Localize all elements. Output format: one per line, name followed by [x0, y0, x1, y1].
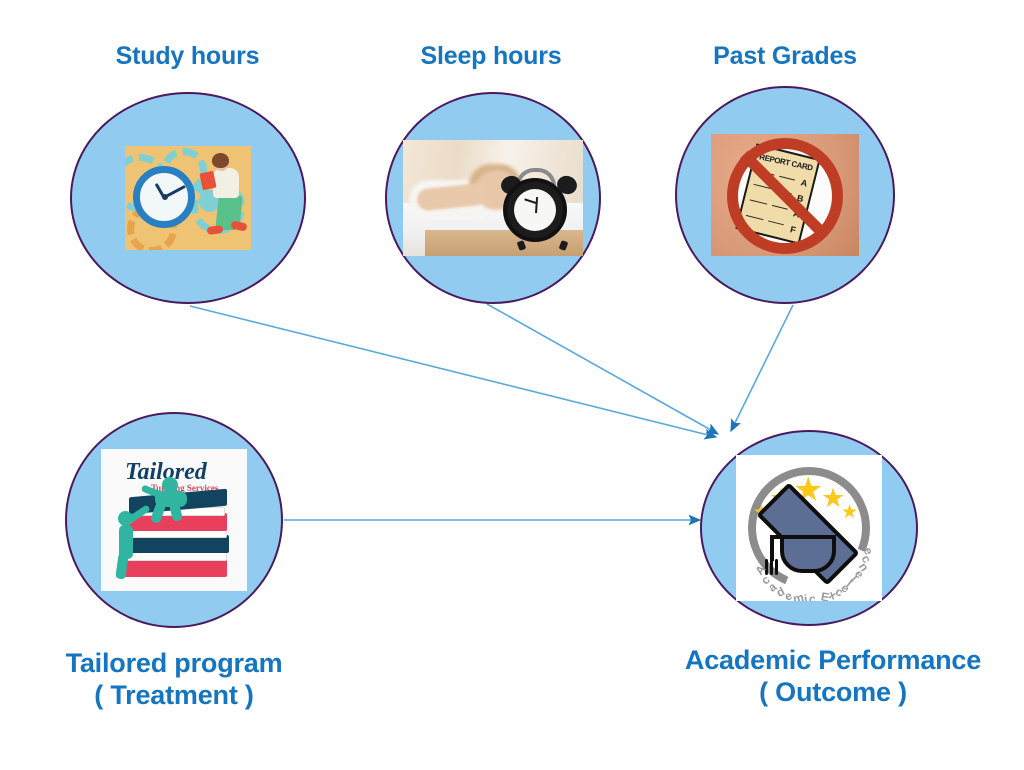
- academic-excellence-graduation-cap-icon: ★ ★ ★ ★ ★ A c a d e m i c E x c: [736, 455, 882, 601]
- label-academic-performance: Academic Performance ( Outcome ): [665, 645, 1001, 709]
- label-sleep-hours: Sleep hours: [380, 42, 602, 72]
- academic-excellence-caption: A c a d e m i c E x c e l l e n c e: [736, 455, 882, 601]
- label-tailored-program: Tailored program ( Treatment ): [35, 648, 313, 712]
- edge-sleep-to-outcome: [487, 304, 718, 434]
- node-sleep-hours[interactable]: [385, 92, 601, 304]
- node-tailored-program[interactable]: Tailored Tutoring Services: [65, 412, 283, 628]
- edge-study-to-outcome: [190, 306, 716, 437]
- node-past-grades[interactable]: REPORT CARD A B A F: [675, 86, 895, 304]
- node-study-hours[interactable]: [70, 92, 306, 304]
- node-academic-performance[interactable]: ★ ★ ★ ★ ★ A c a d e m i c E x c: [700, 430, 918, 626]
- clock-and-student-icon: [125, 146, 251, 250]
- label-study-hours: Study hours: [70, 42, 305, 72]
- tailored-tutoring-books-icon: Tailored Tutoring Services: [101, 449, 247, 591]
- sleeping-person-alarm-clock-icon: [403, 140, 583, 256]
- diagram-canvas: Study hours Sleep hours Past Grades: [0, 0, 1024, 770]
- no-report-card-icon: REPORT CARD A B A F: [711, 134, 859, 256]
- edge-grades-to-outcome: [731, 305, 793, 431]
- label-past-grades: Past Grades: [675, 42, 895, 72]
